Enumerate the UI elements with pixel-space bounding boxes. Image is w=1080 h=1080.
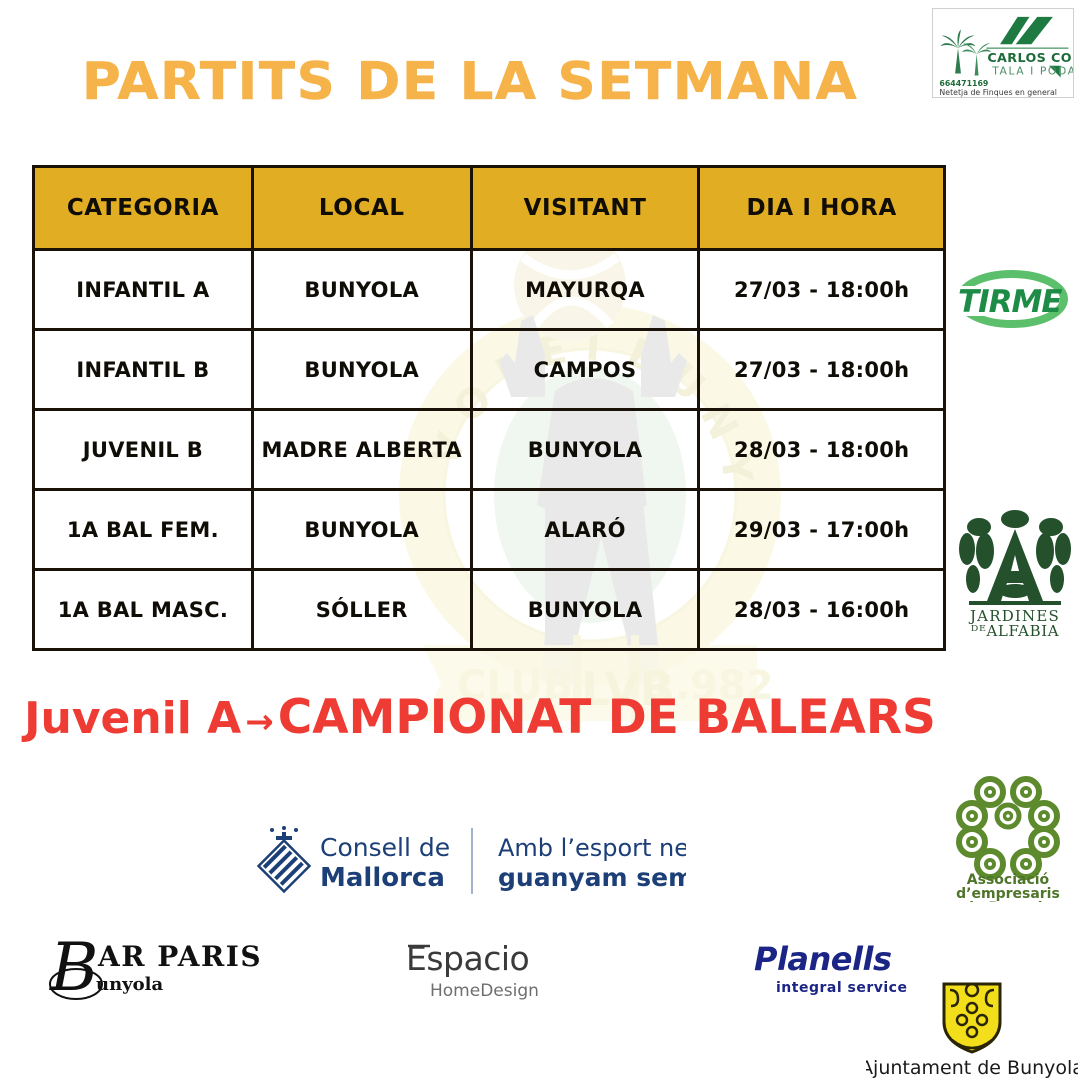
svg-text:TALA I PODA: TALA I PODA [991, 65, 1073, 78]
headline-lead: Juvenil A [24, 693, 241, 744]
svg-text:Netetja de Finques en general: Netetja de Finques en general [939, 88, 1057, 97]
cell-visitant: MAYURQA [471, 250, 699, 330]
table-header-row: CATEGORIA LOCAL VISITANT DIA I HORA [34, 167, 945, 250]
championship-headline: Juvenil A→CAMPIONAT DE BALEARS [0, 690, 960, 745]
cell-visitant: BUNYOLA [471, 570, 699, 650]
column-header-visitant: VISITANT [471, 167, 699, 250]
cell-dia-hora: 27/03 - 18:00h [699, 330, 945, 410]
table-row: 1A BAL MASC. SÓLLER BUNYOLA 28/03 - 16:0… [34, 570, 945, 650]
sponsor-logo-bar-paris: B AR PARIS unyola [48, 928, 268, 1008]
svg-text:664471169: 664471169 [939, 79, 988, 88]
svg-text:ᴰᴱALFABIA: ᴰᴱALFABIA [971, 622, 1059, 637]
svg-text:TIRME: TIRME [958, 284, 1062, 320]
cell-local: BUNYOLA [252, 330, 471, 410]
poster-canvas: VOLEI BUNYOLA [0, 0, 1080, 1080]
cell-visitant: ALARÓ [471, 490, 699, 570]
cell-categoria: JUVENIL B [34, 410, 253, 490]
svg-text:HomeDesign: HomeDesign [430, 981, 539, 1001]
svg-text:CARLOS COLOM: CARLOS COLOM [987, 50, 1073, 65]
cell-local: BUNYOLA [252, 250, 471, 330]
cell-dia-hora: 29/03 - 17:00h [699, 490, 945, 570]
column-header-dia-hora: DIA I HORA [699, 167, 945, 250]
sponsor-logo-carlos-colom: CARLOS COLOM TALA I PODA 664471169 Netet… [932, 8, 1074, 98]
sponsor-logo-tirme: TIRME [952, 268, 1072, 330]
cell-categoria: INFANTIL B [34, 330, 253, 410]
table-row: JUVENIL B MADRE ALBERTA BUNYOLA 28/03 - … [34, 410, 945, 490]
cell-dia-hora: 28/03 - 18:00h [699, 410, 945, 490]
sponsor-logo-consell-de-mallorca: Consell de Mallorca Amb l’esport net gua… [250, 818, 686, 904]
svg-text:Consell de: Consell de [320, 833, 450, 862]
cell-categoria: 1A BAL FEM. [34, 490, 253, 570]
table-row: INFANTIL B BUNYOLA CAMPOS 27/03 - 18:00h [34, 330, 945, 410]
svg-text:guanyam sempre!: guanyam sempre! [498, 863, 686, 892]
svg-text:Amb l’esport net: Amb l’esport net [498, 834, 686, 862]
matches-table: CATEGORIA LOCAL VISITANT DIA I HORA INFA… [32, 165, 946, 651]
cell-local: MADRE ALBERTA [252, 410, 471, 490]
cell-categoria: 1A BAL MASC. [34, 570, 253, 650]
cell-dia-hora: 28/03 - 16:00h [699, 570, 945, 650]
svg-text:Planells: Planells [754, 940, 891, 978]
table-row: INFANTIL A BUNYOLA MAYURQA 27/03 - 18:00… [34, 250, 945, 330]
arrow-icon: → [241, 702, 278, 742]
svg-text:Mallorca: Mallorca [320, 863, 445, 893]
column-header-categoria: CATEGORIA [34, 167, 253, 250]
cell-local: SÓLLER [252, 570, 471, 650]
cell-visitant: CAMPOS [471, 330, 699, 410]
sponsor-logo-ajuntament-de-bunyola: Ajuntament de Bunyola [866, 978, 1078, 1078]
sponsor-logo-associacio-empresaris: Associació d’empresaris de Bunyola [942, 772, 1074, 902]
cell-categoria: INFANTIL A [34, 250, 253, 330]
svg-text:de Bunyola: de Bunyola [964, 900, 1052, 902]
cell-visitant: BUNYOLA [471, 410, 699, 490]
column-header-local: LOCAL [252, 167, 471, 250]
page-title: PARTITS DE LA SETMANA [0, 52, 949, 112]
headline-main: CAMPIONAT DE BALEARS [278, 690, 936, 745]
sponsor-logo-jardines-de-alfabia: JARDINES ᴰᴱALFABIA [955, 505, 1075, 637]
table-row: 1A BAL FEM. BUNYOLA ALARÓ 29/03 - 17:00h [34, 490, 945, 570]
svg-text:AR PARIS: AR PARIS [97, 940, 262, 973]
cell-dia-hora: 27/03 - 18:00h [699, 250, 945, 330]
cell-local: BUNYOLA [252, 490, 471, 570]
sponsor-logo-espacio-homedesign: Espacio HomeDesign [398, 934, 578, 1006]
svg-text:unyola: unyola [96, 974, 163, 995]
svg-text:Ajuntament de Bunyola: Ajuntament de Bunyola [866, 1057, 1078, 1078]
